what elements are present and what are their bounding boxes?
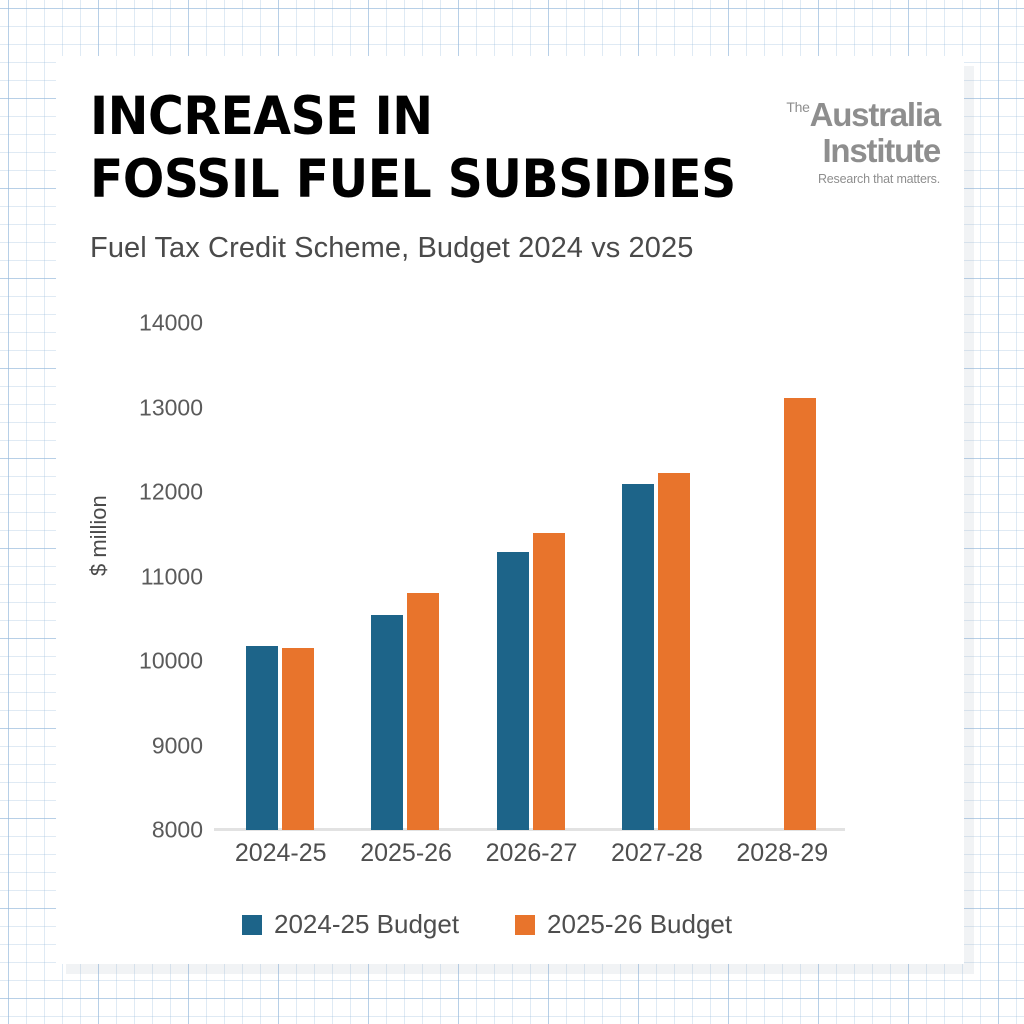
bar-group: 2027-28 [594, 323, 719, 830]
bar-group: 2026-27 [469, 323, 594, 830]
x-tick-label: 2026-27 [469, 839, 594, 868]
y-tick-label: 14000 [83, 310, 203, 337]
y-tick-label: 11000 [83, 563, 203, 590]
bar-2025-26-series-2[interactable] [407, 593, 439, 830]
bar-group: 2024-25 [218, 323, 343, 830]
legend-item-2[interactable]: 2025-26 Budget [515, 909, 732, 940]
legend-label: 2025-26 Budget [547, 909, 732, 940]
chart-legend: 2024-25 Budget2025-26 Budget [242, 909, 732, 940]
y-tick-label: 12000 [83, 479, 203, 506]
y-tick-label: 10000 [83, 648, 203, 675]
legend-label: 2024-25 Budget [274, 909, 459, 940]
x-tick-label: 2028-29 [720, 839, 845, 868]
chart-card: INCREASE IN FOSSIL FUEL SUBSIDIES Fuel T… [56, 56, 964, 964]
y-tick-label: 13000 [83, 394, 203, 421]
bar-group: 2025-26 [343, 323, 468, 830]
bar-2024-25-series-1[interactable] [246, 646, 278, 830]
bar-chart: $ million 800090001000011000120001300014… [56, 56, 964, 964]
bar-2027-28-series-1[interactable] [622, 484, 654, 830]
plot-area: 800090001000011000120001300014000 2024-2… [218, 323, 845, 830]
bar-2024-25-series-2[interactable] [282, 648, 314, 830]
y-tick-label: 8000 [83, 817, 203, 844]
y-tick-label: 9000 [83, 732, 203, 759]
legend-item-1[interactable]: 2024-25 Budget [242, 909, 459, 940]
bar-2026-27-series-1[interactable] [497, 552, 529, 830]
bar-2025-26-series-1[interactable] [371, 615, 403, 830]
bar-2027-28-series-2[interactable] [658, 473, 690, 830]
bar-group: 2028-29 [720, 323, 845, 830]
poster-background: INCREASE IN FOSSIL FUEL SUBSIDIES Fuel T… [0, 0, 1024, 1024]
bar-2028-29-series-2[interactable] [784, 398, 816, 830]
x-tick-label: 2025-26 [343, 839, 468, 868]
x-tick-label: 2027-28 [594, 839, 719, 868]
x-tick-label: 2024-25 [218, 839, 343, 868]
legend-swatch-icon [515, 915, 535, 935]
bar-2026-27-series-2[interactable] [533, 533, 565, 830]
legend-swatch-icon [242, 915, 262, 935]
